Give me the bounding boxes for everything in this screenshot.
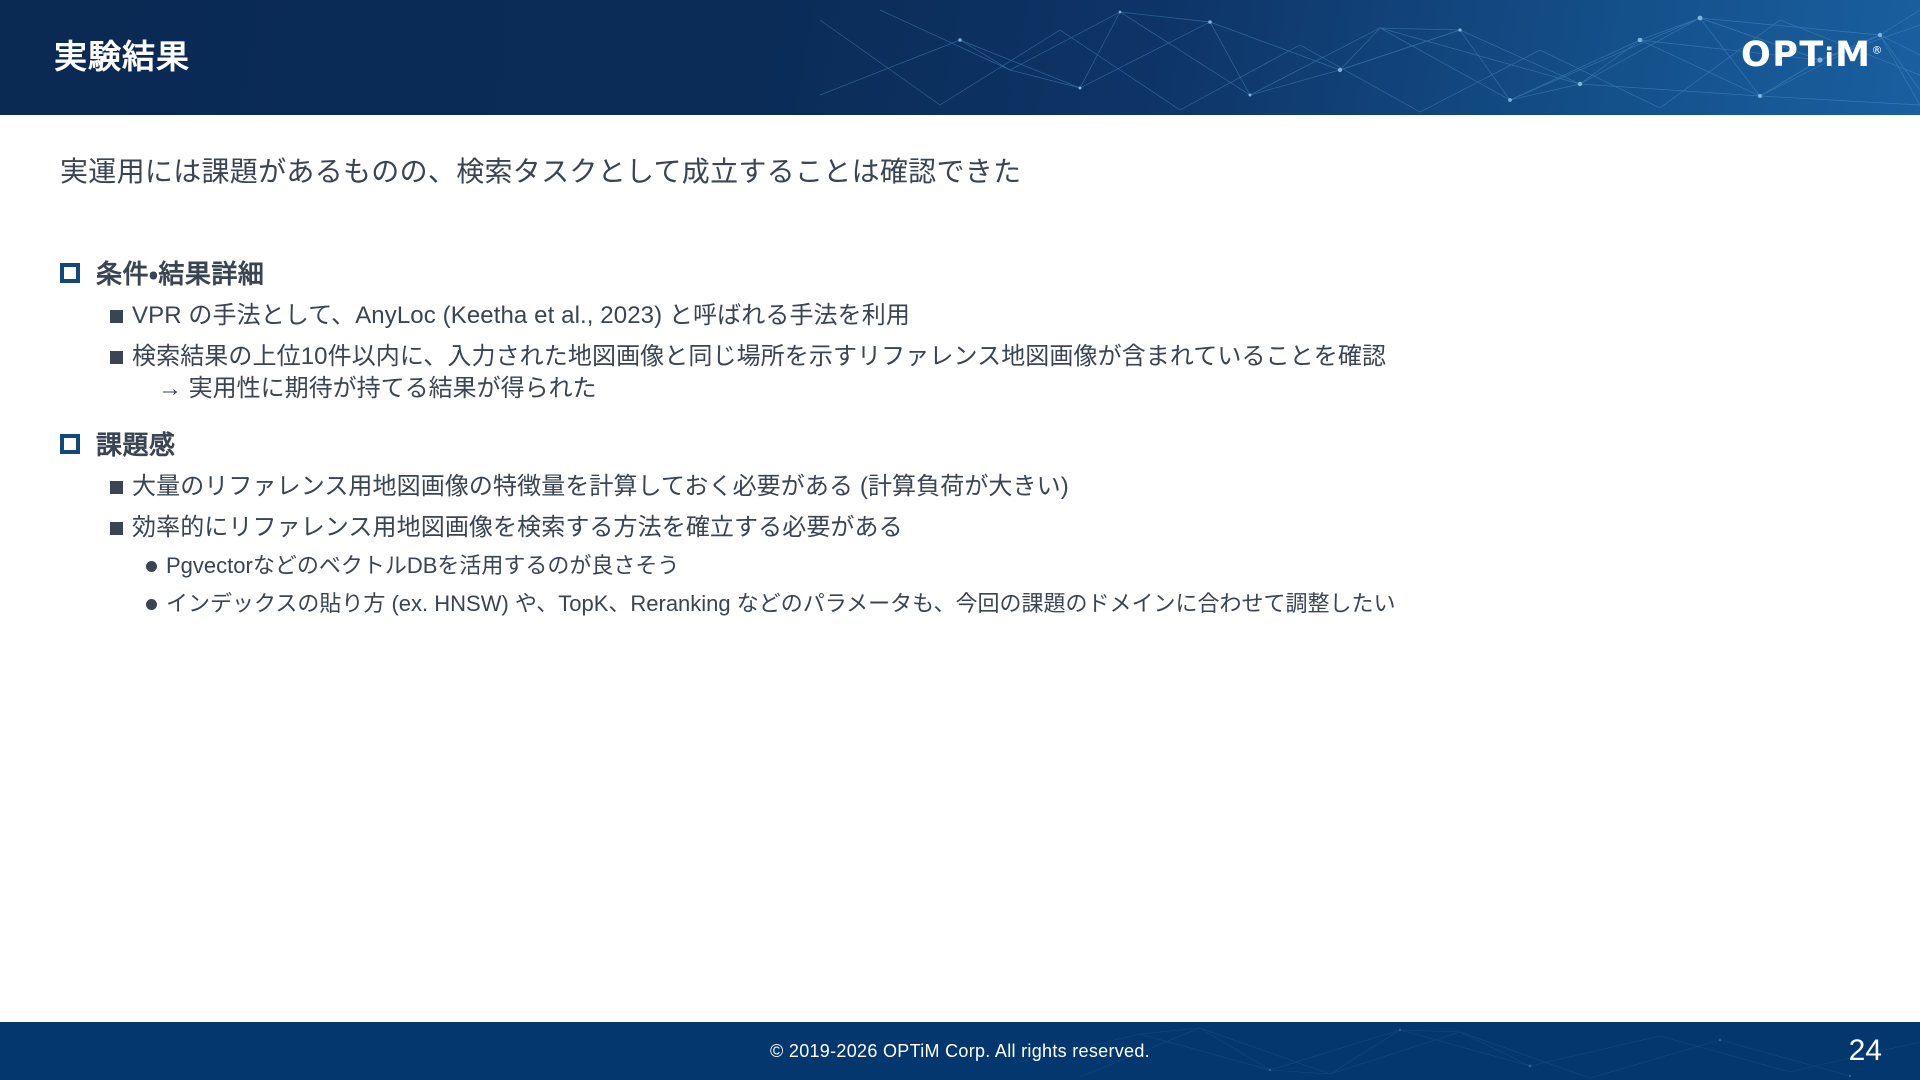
page-title: 実験結果 [54, 30, 190, 78]
filled-square-bullet-icon [110, 310, 123, 323]
slide-content: 実運用には課題があるものの、検索タスクとして成立することは確認できた 条件・結果… [0, 115, 1920, 1005]
list-item-text: 大量のリファレンス用地図画像の特徴量を計算しておく必要がある (計算負荷が大きい… [132, 471, 1069, 503]
round-bullet-icon [146, 599, 157, 610]
page-number: 24 [1849, 1022, 1882, 1080]
list-item: 効率的にリファレンス用地図画像を検索する方法を確立する必要がある [110, 512, 1860, 544]
sub-list-item: インデックスの貼り方 (ex. HNSW) や、TopK、Reranking な… [146, 590, 1860, 619]
round-bullet-icon [146, 561, 157, 572]
list-item: VPR の手法として、AnyLoc (Keetha et al., 2023) … [110, 300, 1860, 332]
bullet-blocks: 条件・結果詳細 VPR の手法として、AnyLoc (Keetha et al.… [60, 250, 1860, 619]
optim-logo: OPTiM® [1741, 35, 1884, 75]
lead-statement: 実運用には課題があるものの、検索タスクとして成立することは確認できた [60, 150, 1021, 190]
filled-square-bullet-icon [110, 351, 123, 364]
square-bullet-icon [60, 263, 80, 283]
logo-main: OPT [1741, 35, 1825, 75]
filled-square-bullet-icon [110, 522, 123, 535]
registered-mark-icon: ® [1872, 43, 1885, 56]
section-heading: 課題感 [96, 425, 176, 462]
list-item-subnote: → 実用性に期待が持てる結果が得られた [158, 372, 1386, 407]
list-item-text: VPR の手法として、AnyLoc (Keetha et al., 2023) … [132, 300, 910, 332]
logo-lower: i [1825, 43, 1835, 73]
section-heading-row: 条件・結果詳細 [60, 254, 1860, 291]
slide: 実験結果 OPTiM® 実運用には課題があるものの、検索タスクとして成立すること… [0, 0, 1920, 1080]
copyright-text: © 2019-2026 OPTiM Corp. All rights reser… [0, 1022, 1920, 1080]
filled-square-bullet-icon [110, 481, 123, 494]
section-conditions-results: 条件・結果詳細 VPR の手法として、AnyLoc (Keetha et al.… [60, 254, 1860, 407]
square-bullet-icon [60, 434, 80, 454]
slide-header: 実験結果 OPTiM® [0, 0, 1920, 115]
list-item-text: 効率的にリファレンス用地図画像を検索する方法を確立する必要がある [132, 512, 903, 544]
logo-tail: M [1835, 35, 1871, 75]
sub-list-item-text: PgvectorなどのベクトルDBを活用するのが良さそう [166, 552, 679, 581]
list-item-text: 検索結果の上位10件以内に、入力された地図画像と同じ場所を示すリファレンス地図画… [132, 341, 1386, 373]
sub-list-item: PgvectorなどのベクトルDBを活用するのが良さそう [146, 552, 1860, 581]
list-item: 大量のリファレンス用地図画像の特徴量を計算しておく必要がある (計算負荷が大きい… [110, 471, 1860, 503]
section-heading-row: 課題感 [60, 425, 1860, 462]
list-item: 検索結果の上位10件以内に、入力された地図画像と同じ場所を示すリファレンス地図画… [110, 341, 1860, 407]
section-challenges: 課題感 大量のリファレンス用地図画像の特徴量を計算しておく必要がある (計算負荷… [60, 425, 1860, 619]
sub-list-item-text: インデックスの貼り方 (ex. HNSW) や、TopK、Reranking な… [166, 590, 1395, 619]
section-heading: 条件・結果詳細 [96, 254, 264, 291]
slide-footer: © 2019-2026 OPTiM Corp. All rights reser… [0, 1022, 1920, 1080]
